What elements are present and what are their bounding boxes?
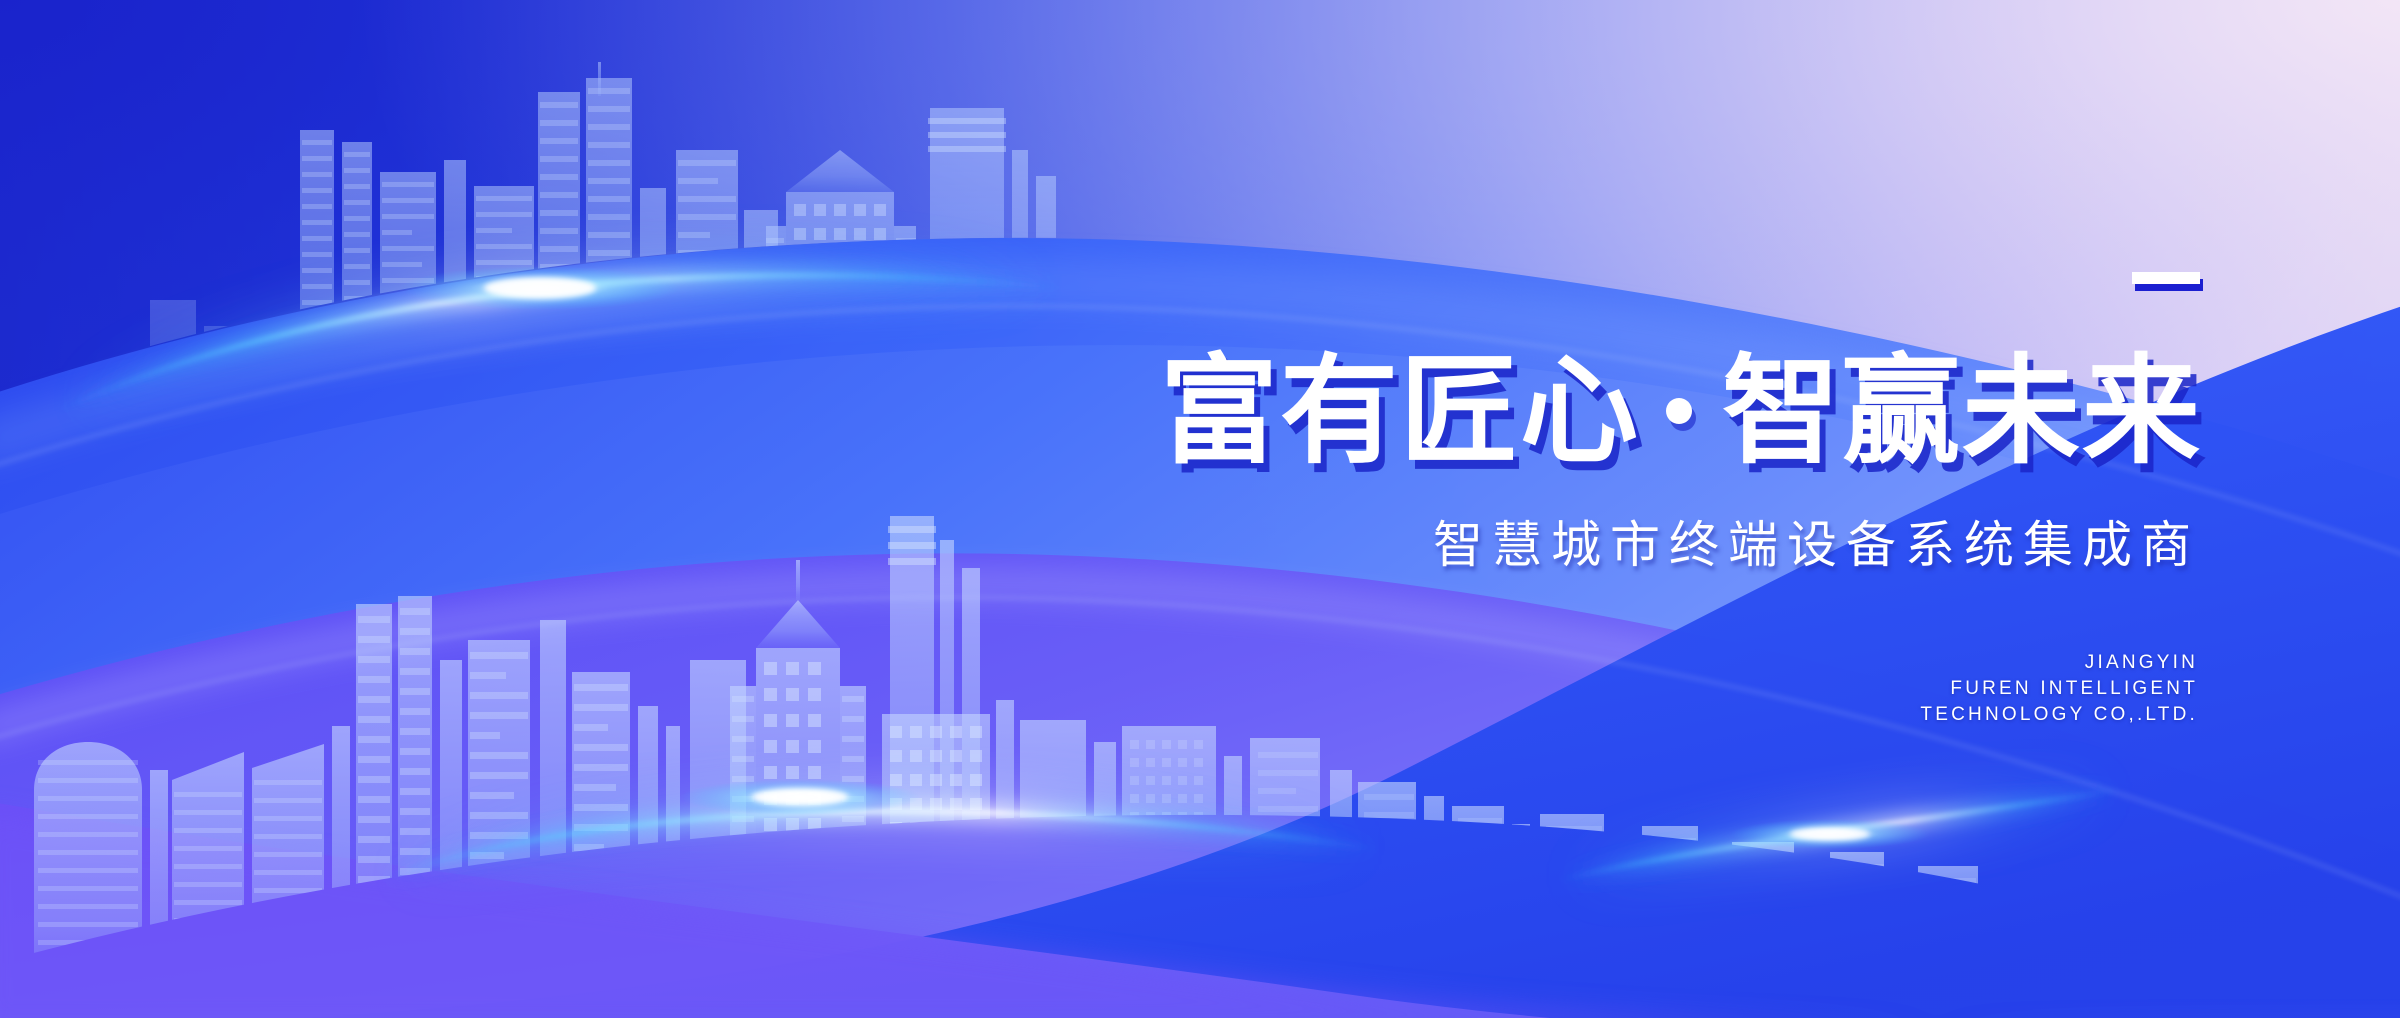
background-artwork bbox=[0, 0, 2400, 1018]
banner-root: 富有匠心 智赢未来 智慧城市终端设备系统集成商 JIANGYIN FUREN I… bbox=[0, 0, 2400, 1018]
